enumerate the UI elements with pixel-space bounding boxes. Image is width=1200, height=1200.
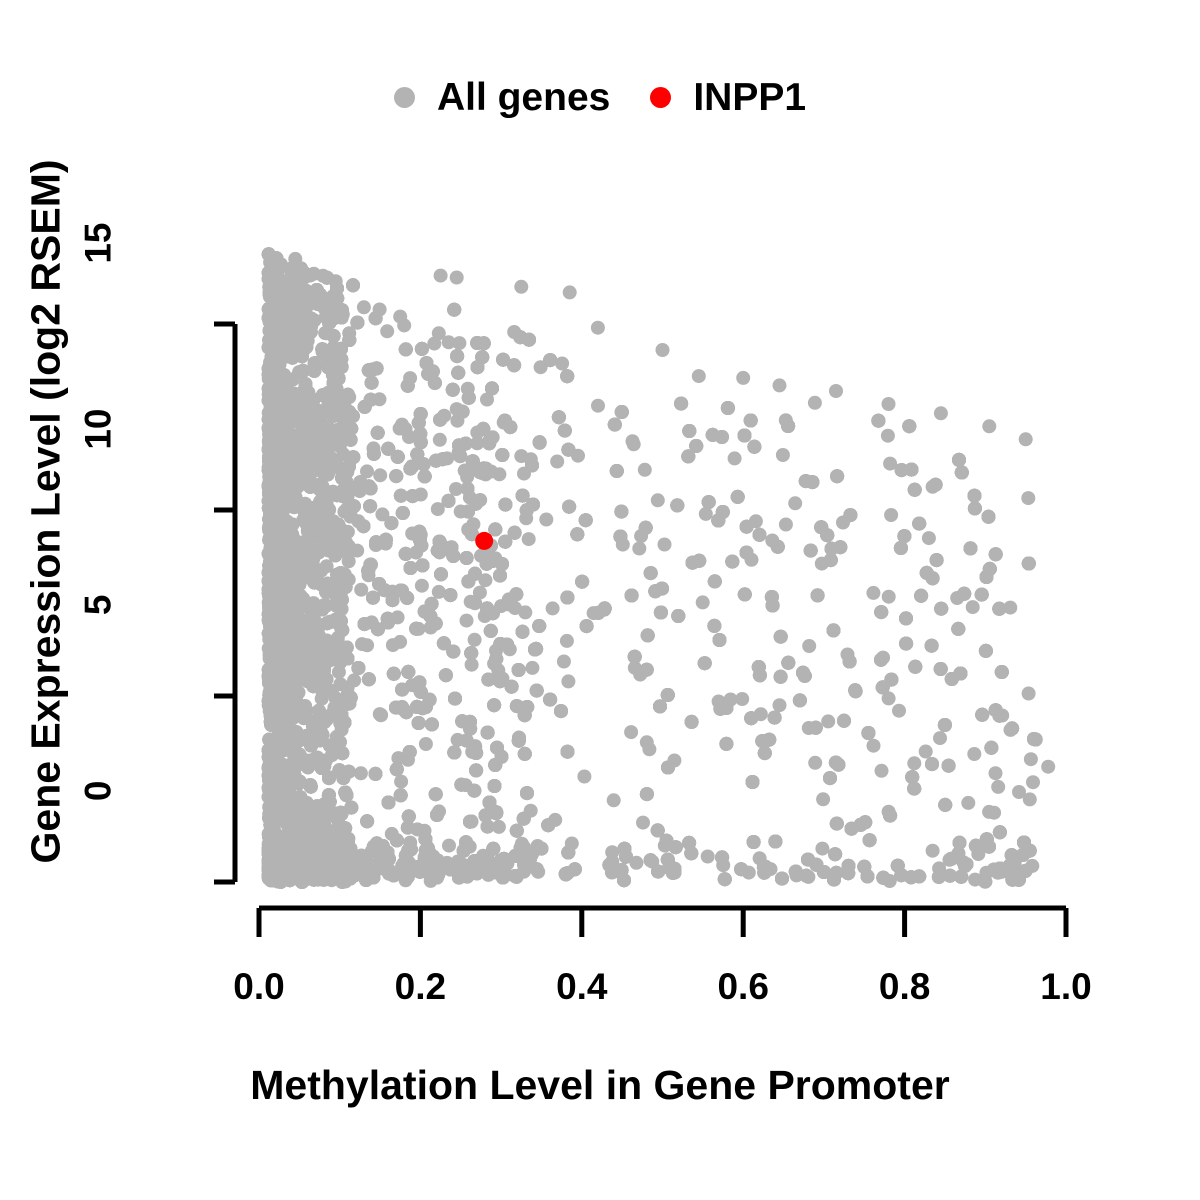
x-tick-label: 0.2 <box>395 968 446 1005</box>
scatter-plot-figure: All genes INPP1 0.00.20.40.60.81.0 05101… <box>0 0 1200 1200</box>
x-tick-label: 0.6 <box>717 968 768 1005</box>
x-tick-label: 0.0 <box>233 968 284 1005</box>
plot-canvas <box>0 0 1200 1200</box>
highlight-point-layer <box>475 532 493 550</box>
y-axis-title: Gene Expression Level (log2 RSEM) <box>23 159 69 863</box>
y-tick-label: 0 <box>80 781 117 977</box>
x-tick-label: 0.8 <box>879 968 930 1005</box>
y-tick-label: 10 <box>80 409 117 605</box>
y-tick-label: 5 <box>80 595 117 791</box>
x-tick-label: 0.4 <box>556 968 607 1005</box>
data-points-layer <box>262 247 1055 889</box>
x-axis-title: Methylation Level in Gene Promoter <box>0 1062 1200 1109</box>
y-tick-label: 15 <box>80 223 117 419</box>
y-axis-title-wrapper: Gene Expression Level (log2 RSEM) <box>23 264 70 864</box>
x-tick-label: 1.0 <box>1040 968 1091 1005</box>
